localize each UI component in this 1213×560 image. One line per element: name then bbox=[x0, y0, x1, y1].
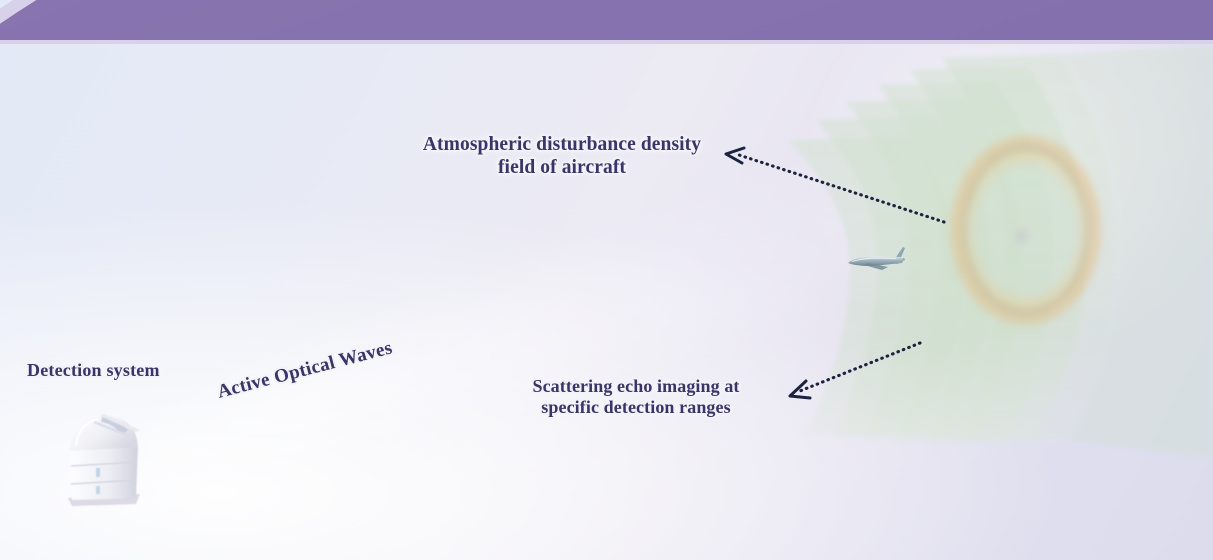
figure-canvas: Atmospheric disturbance density field of… bbox=[0, 0, 1213, 560]
earth-sphere bbox=[0, 0, 1213, 560]
label-active-optical-waves: Active Optical Waves bbox=[215, 337, 395, 404]
arrow-to-scattering-echo bbox=[790, 343, 920, 398]
density-field-slice bbox=[816, 116, 992, 438]
density-field-slice bbox=[878, 81, 1054, 442]
background-glow bbox=[713, 0, 1213, 440]
observatory-telescope bbox=[56, 404, 152, 514]
density-field-slices bbox=[770, 40, 1213, 460]
density-field-slice bbox=[788, 136, 964, 436]
landmass bbox=[98, 510, 307, 556]
landmass bbox=[110, 541, 392, 560]
density-field-slice bbox=[942, 54, 1118, 444]
landmass bbox=[894, 514, 1168, 560]
earth-ocean bbox=[0, 0, 1213, 560]
label-atmospheric-disturbance-density-field: Atmospheric disturbance density field of… bbox=[412, 133, 712, 179]
density-field-volume bbox=[1060, 46, 1213, 458]
shock-ring bbox=[948, 132, 1104, 328]
label-scattering-echo-imaging: Scattering echo imaging at specific dete… bbox=[512, 376, 760, 418]
landmass bbox=[638, 479, 849, 545]
aircraft bbox=[842, 243, 914, 279]
density-field-slice bbox=[910, 66, 1086, 444]
density-field-slice bbox=[846, 98, 1022, 440]
annotation-arrows bbox=[0, 0, 1213, 560]
label-detection-system: Detection system bbox=[27, 360, 160, 381]
arrow-to-disturbance-field bbox=[726, 148, 944, 222]
